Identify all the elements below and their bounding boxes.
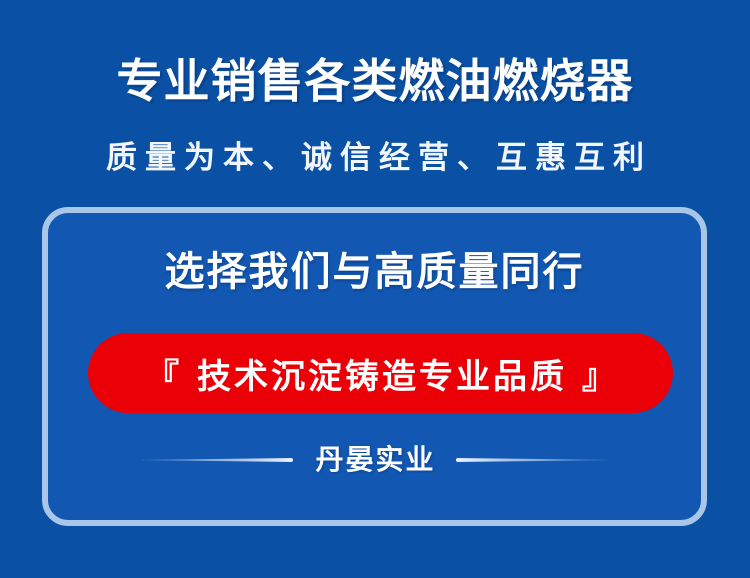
sub-title: 质量为本、诚信经营、互惠互利 [0, 136, 750, 180]
decorative-rule-right [456, 458, 608, 462]
decorative-rule-left [141, 458, 293, 462]
panel-headline: 选择我们与高质量同行 [48, 246, 701, 298]
main-title: 专业销售各类燃油燃烧器 [0, 52, 750, 110]
banner-header: 专业销售各类燃油燃烧器 质量为本、诚信经营、互惠互利 [0, 0, 750, 200]
promo-banner: 专业销售各类燃油燃烧器 质量为本、诚信经营、互惠互利 选择我们与高质量同行 『 … [0, 0, 750, 578]
panel-content: 选择我们与高质量同行 『 技术沉淀铸造专业品质 』 丹晏实业 [48, 213, 701, 520]
brand-row: 丹晏实业 [48, 436, 701, 484]
slogan-pill-text: 『 技术沉淀铸造专业品质 』 [88, 333, 673, 413]
slogan-pill: 『 技术沉淀铸造专业品质 』 [88, 333, 673, 413]
framed-panel: 选择我们与高质量同行 『 技术沉淀铸造专业品质 』 丹晏实业 [42, 207, 707, 526]
brand-name: 丹晏实业 [313, 442, 435, 478]
